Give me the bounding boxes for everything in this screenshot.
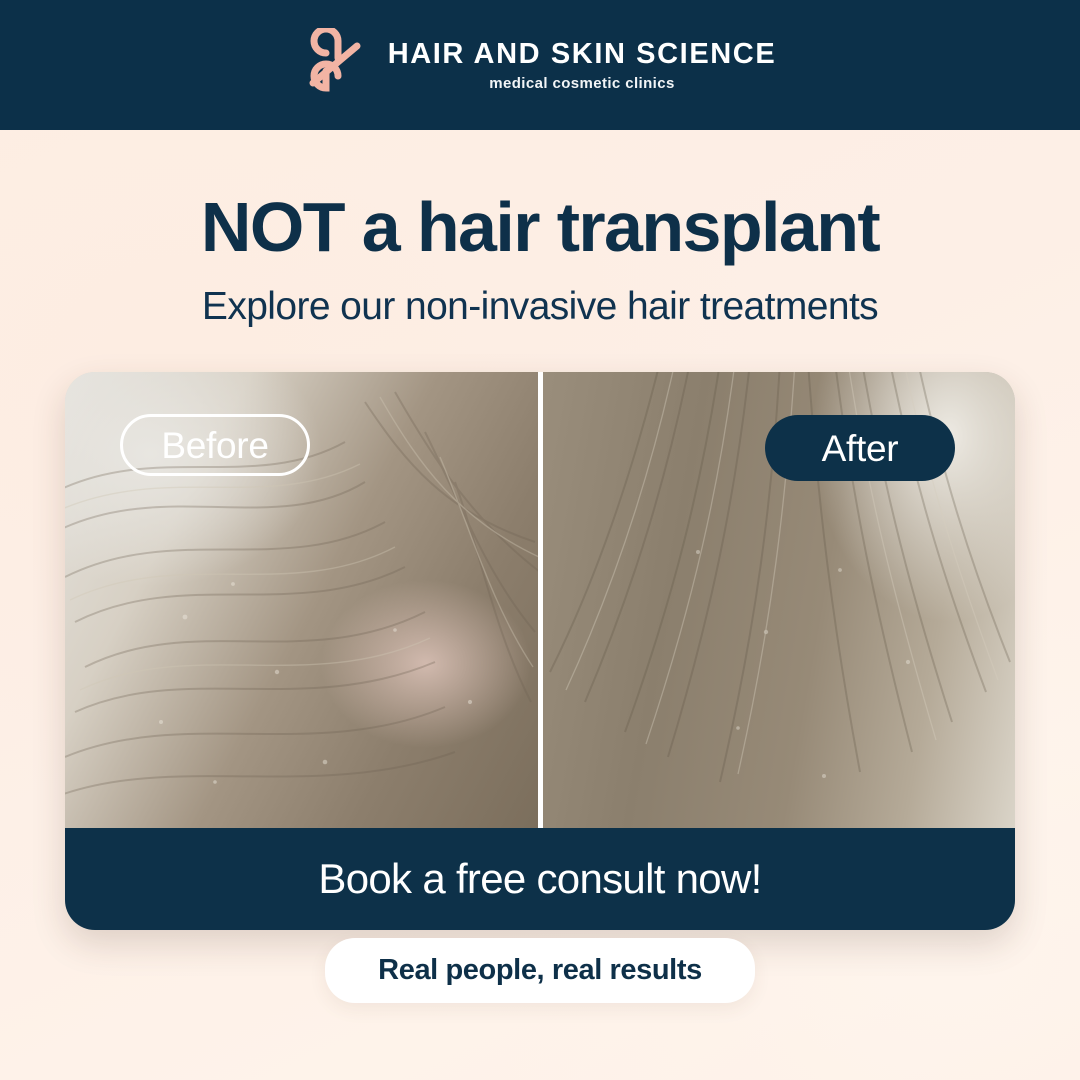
page-subtitle: Explore our non-invasive hair treatments bbox=[0, 287, 1080, 328]
brand-name: HAIR AND SKIN SCIENCE bbox=[388, 40, 777, 69]
brand-header: HAIR AND SKIN SCIENCE medical cosmetic c… bbox=[0, 0, 1080, 130]
brand-text-block: HAIR AND SKIN SCIENCE medical cosmetic c… bbox=[388, 40, 777, 91]
cta-banner[interactable]: Book a free consult now! bbox=[65, 828, 1015, 930]
promo-creative: HAIR AND SKIN SCIENCE medical cosmetic c… bbox=[0, 0, 1080, 1080]
before-badge: Before bbox=[120, 414, 310, 476]
footer-tagline-card: Real people, real results bbox=[325, 938, 755, 1003]
page-title: NOT a hair transplant bbox=[0, 192, 1080, 263]
hero-text-block: NOT a hair transplant Explore our non-in… bbox=[0, 130, 1080, 328]
ampersand-loops-logo-icon bbox=[304, 28, 366, 102]
after-badge: After bbox=[765, 415, 955, 481]
before-after-card: Before After Book a free consult now! bbox=[65, 372, 1015, 930]
brand-tagline: medical cosmetic clinics bbox=[489, 76, 675, 91]
photo-divider bbox=[538, 372, 543, 828]
cta-label: Book a free consult now! bbox=[318, 858, 761, 900]
footer-tagline: Real people, real results bbox=[378, 956, 702, 985]
